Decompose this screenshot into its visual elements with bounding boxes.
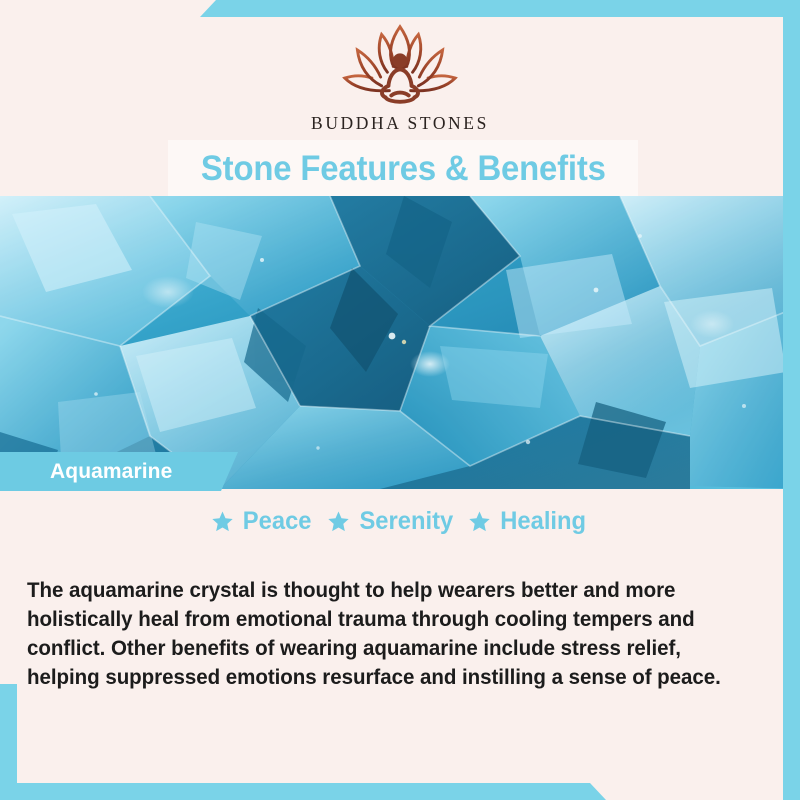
crystal-photo [0,196,800,489]
crystal-photo-graphic [0,196,800,489]
keyword-item-serenity: Serenity [327,509,456,534]
page-title: Stone Features & Benefits [201,151,606,186]
keyword-item-peace: Peace [211,509,313,534]
stone-name: Aquamarine [50,461,172,482]
star-icon [211,510,234,533]
stone-description: The aquamarine crystal is thought to hel… [27,576,741,693]
poster-root: BUDDHA STONES Stone Features & Benefits [0,0,800,800]
brand-name: BUDDHA STONES [0,113,800,134]
keyword-item-healing: Healing [468,509,588,534]
star-icon [327,510,350,533]
keyword-label: Healing [501,509,587,534]
content-section: Peace Serenity Healing The aquamarine cr… [0,489,800,783]
title-banner: Stone Features & Benefits [168,140,638,196]
frame-left-accent [0,684,17,800]
frame-right-accent [783,0,800,800]
star-icon [468,510,491,533]
brand-logo: BUDDHA STONES [0,18,800,134]
frame-bottom-accent [0,783,800,800]
keyword-list: Peace Serenity Healing [0,509,800,534]
stone-name-banner: Aquamarine [0,452,238,491]
lotus-meditation-figure-icon [325,18,475,110]
keyword-label: Serenity [359,509,453,534]
keyword-label: Peace [243,509,312,534]
